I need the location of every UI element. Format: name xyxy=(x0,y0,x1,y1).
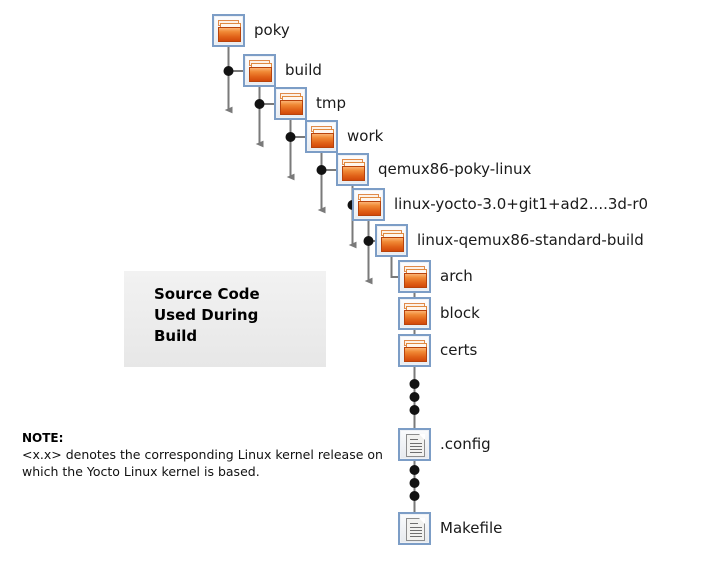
tree-node-label: linux-qemux86-standard-build xyxy=(417,233,644,248)
note-body: <x.x> denotes the corresponding Linux ke… xyxy=(22,446,392,480)
tree-node-label: block xyxy=(440,306,480,321)
tree-node-label: tmp xyxy=(316,96,346,111)
file-icon xyxy=(398,428,431,461)
tree-node-arch[interactable]: arch xyxy=(398,260,473,293)
tree-node-makefile[interactable]: Makefile xyxy=(398,512,502,545)
folder-icon xyxy=(375,224,408,257)
tree-node-work[interactable]: work xyxy=(305,120,383,153)
tree-node-linux-yocto[interactable]: linux-yocto-3.0+git1+ad2....3d-r0 xyxy=(352,188,648,221)
source-code-callout: Source Code Used During Build xyxy=(124,271,326,367)
note-title: NOTE: xyxy=(22,430,392,446)
tree-node-poky[interactable]: poky xyxy=(212,14,290,47)
tree-node-config[interactable]: .config xyxy=(398,428,491,461)
note-block: NOTE: <x.x> denotes the corresponding Li… xyxy=(22,430,392,480)
diagram-canvas: poky build tmp work qemux86-poky-linux l… xyxy=(0,0,705,581)
tree-node-tmp[interactable]: tmp xyxy=(274,87,346,120)
folder-icon xyxy=(398,260,431,293)
tree-node-label: linux-yocto-3.0+git1+ad2....3d-r0 xyxy=(394,197,648,212)
tree-node-label: poky xyxy=(254,23,290,38)
tree-node-label: .config xyxy=(440,437,491,452)
folder-icon xyxy=(352,188,385,221)
folder-icon xyxy=(305,120,338,153)
folder-icon xyxy=(212,14,245,47)
tree-node-qemux86-poky-linux[interactable]: qemux86-poky-linux xyxy=(336,153,531,186)
tree-node-label: certs xyxy=(440,343,477,358)
folder-icon xyxy=(336,153,369,186)
file-icon xyxy=(398,512,431,545)
tree-node-label: work xyxy=(347,129,383,144)
tree-node-label: Makefile xyxy=(440,521,502,536)
source-code-callout-text: Source Code Used During Build xyxy=(154,284,260,347)
tree-node-label: arch xyxy=(440,269,473,284)
folder-icon xyxy=(274,87,307,120)
tree-node-label: qemux86-poky-linux xyxy=(378,162,531,177)
folder-icon xyxy=(398,334,431,367)
folder-icon xyxy=(243,54,276,87)
connector-layer xyxy=(0,0,705,581)
tree-node-linux-qemux86-standard-build[interactable]: linux-qemux86-standard-build xyxy=(375,224,644,257)
tree-node-build[interactable]: build xyxy=(243,54,322,87)
callout-line-1: Source Code xyxy=(154,284,260,305)
tree-node-block[interactable]: block xyxy=(398,297,480,330)
callout-line-3: Build xyxy=(154,326,260,347)
tree-node-certs[interactable]: certs xyxy=(398,334,477,367)
folder-icon xyxy=(398,297,431,330)
tree-node-label: build xyxy=(285,63,322,78)
callout-line-2: Used During xyxy=(154,305,260,326)
